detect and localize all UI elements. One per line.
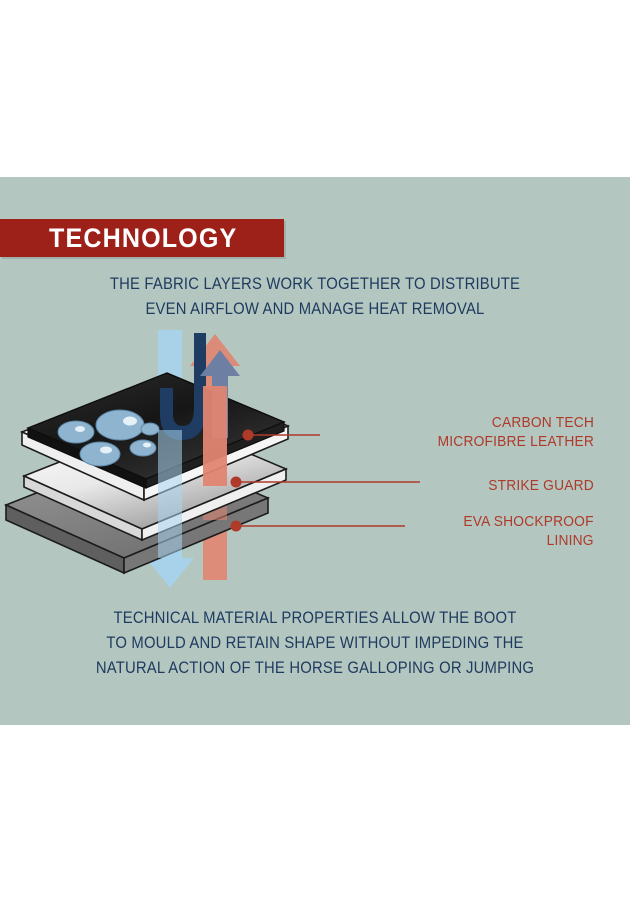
- callout-carbon-line-1: CARBON TECH: [438, 413, 594, 432]
- body-line-3: NATURAL ACTION OF THE HORSE GALLOPING OR…: [32, 656, 599, 681]
- body-line-1: TECHNICAL MATERIAL PROPERTIES ALLOW THE …: [32, 606, 599, 631]
- layer-diagram-svg: [0, 330, 630, 600]
- callout-carbon-tech-microfibre-leather: CARBON TECH MICROFIBRE LEATHER: [424, 413, 594, 451]
- callout-eva-line-1: EVA SHOCKPROOF: [464, 512, 594, 531]
- dot-carbon: [243, 430, 254, 441]
- body-text: TECHNICAL MATERIAL PROPERTIES ALLOW THE …: [0, 606, 630, 681]
- technology-banner: TECHNOLOGY: [0, 219, 284, 257]
- layer-diagram: [0, 330, 630, 600]
- cool-arrow-overlap: [158, 430, 182, 558]
- dot-strike: [231, 477, 242, 488]
- dot-eva: [231, 521, 242, 532]
- headline-line-2: EVEN AIRFLOW AND MANAGE HEAT REMOVAL: [32, 297, 599, 322]
- body-line-2: TO MOULD AND RETAIN SHAPE WITHOUT IMPEDI…: [32, 631, 599, 656]
- banner-title: TECHNOLOGY: [49, 223, 237, 254]
- callout-eva-line-2: LINING: [464, 531, 594, 550]
- headline-text: THE FABRIC LAYERS WORK TOGETHER TO DISTR…: [0, 272, 630, 322]
- infographic-page: TECHNOLOGY THE FABRIC LAYERS WORK TOGETH…: [0, 0, 630, 900]
- callout-carbon-line-2: MICROFIBRE LEATHER: [438, 432, 594, 451]
- callout-eva-shockproof-lining: EVA SHOCKPROOF LINING: [452, 512, 594, 550]
- callout-strike-line-1: STRIKE GUARD: [488, 476, 594, 495]
- callout-strike-guard: STRIKE GUARD: [479, 476, 594, 495]
- headline-line-1: THE FABRIC LAYERS WORK TOGETHER TO DISTR…: [32, 272, 599, 297]
- heat-arrow-front: [203, 386, 227, 486]
